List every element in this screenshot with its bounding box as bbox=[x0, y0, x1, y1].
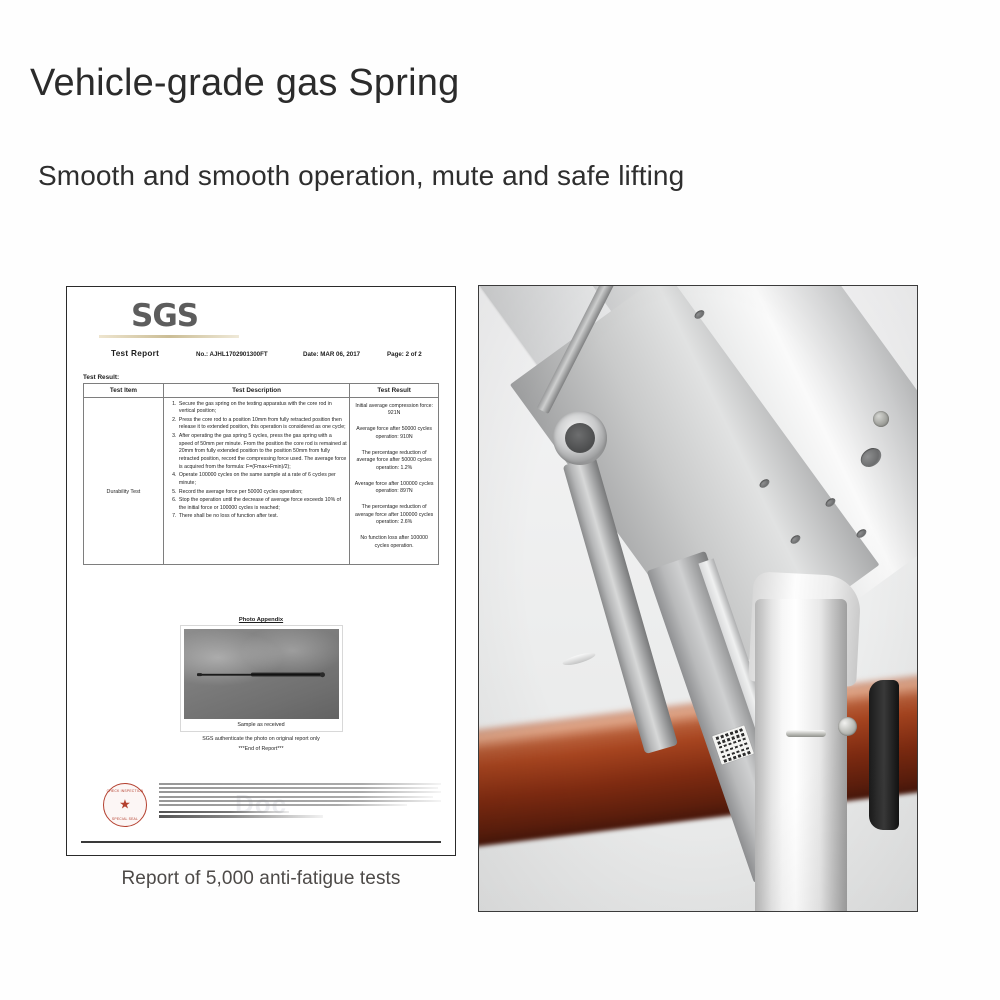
photo-authenticity-note: SGS authenticate the photo on original r… bbox=[83, 736, 439, 742]
col-header-test-item: Test Item bbox=[84, 383, 164, 397]
test-result-label: Test Result: bbox=[83, 374, 439, 381]
step-item: Operate 100000 cycles on the same sample… bbox=[178, 472, 347, 487]
page-subtitle: Smooth and smooth operation, mute and sa… bbox=[38, 160, 684, 192]
test-item-value: Durability Test bbox=[84, 489, 163, 495]
fineprint-line bbox=[159, 791, 441, 793]
sgs-report-page: SGS Test Report No.: AJHL1702901300FT Da… bbox=[71, 291, 451, 851]
red-seal-stamp-icon: CHECK INSPECTION ★ SPECIAL SEAL bbox=[103, 783, 147, 827]
report-title: Test Report bbox=[111, 349, 159, 358]
cell-test-result: Initial average compression force: 921N … bbox=[350, 397, 439, 564]
sgs-logo-underline bbox=[99, 335, 239, 338]
report-header-row: Test Report No.: AJHL1702901300FT Date: … bbox=[83, 347, 439, 363]
cell-test-description: Secure the gas spring on the testing app… bbox=[163, 397, 349, 564]
sgs-logo-block: SGS bbox=[83, 299, 439, 345]
result-line: Average force after 100000 cycles operat… bbox=[353, 481, 435, 496]
signature-line bbox=[159, 815, 323, 817]
sgs-logo: SGS bbox=[131, 301, 198, 332]
test-result-table: Test Item Test Description Test Result D… bbox=[83, 383, 439, 565]
star-icon: ★ bbox=[119, 798, 131, 811]
black-rubber-grip bbox=[869, 680, 899, 830]
post-shading bbox=[755, 599, 847, 912]
fineprint-line bbox=[159, 800, 441, 802]
step-item: Press the core rod to a position 10mm fr… bbox=[178, 417, 347, 432]
step-item: There shall be no loss of function after… bbox=[178, 513, 347, 521]
monitor-arm-scene bbox=[479, 286, 917, 911]
gas-spring-body bbox=[251, 672, 322, 676]
sgs-report-panel: SGS Test Report No.: AJHL1702901300FT Da… bbox=[66, 286, 456, 856]
step-item: Record the average force per 50000 cycle… bbox=[178, 489, 347, 497]
document-caption: Report of 5,000 anti-fatigue tests bbox=[66, 868, 456, 890]
step-item: Secure the gas spring on the testing app… bbox=[178, 401, 347, 416]
result-line: Average force after 50000 cycles operati… bbox=[353, 426, 435, 441]
report-page: Page: 2 of 2 bbox=[387, 351, 422, 358]
stamp-arc-top-text: CHECK INSPECTION bbox=[104, 789, 146, 793]
photo-appendix-title: Photo Appendix bbox=[83, 617, 439, 623]
pivot-pin bbox=[786, 730, 826, 737]
footer-fineprint bbox=[159, 783, 441, 831]
result-line: Initial average compression force: 921N bbox=[353, 403, 435, 418]
page-title: Vehicle-grade gas Spring bbox=[30, 62, 459, 105]
fineprint-line bbox=[159, 796, 433, 798]
test-description-steps: Secure the gas spring on the testing app… bbox=[167, 401, 347, 522]
report-date: Date: MAR 06, 2017 bbox=[303, 351, 360, 358]
fineprint-line bbox=[159, 804, 407, 806]
gas-spring-object bbox=[197, 672, 326, 677]
report-footer: CHECK INSPECTION ★ SPECIAL SEAL bbox=[75, 777, 447, 849]
step-item: Stop the operation until the decrease of… bbox=[178, 497, 347, 512]
cell-test-item: Durability Test bbox=[84, 397, 164, 564]
product-photo-panel bbox=[478, 285, 918, 912]
gas-spring-rod bbox=[197, 673, 254, 675]
photo-caption: Sample as received bbox=[184, 719, 339, 731]
gas-spring-end-cap-right bbox=[320, 672, 325, 677]
result-line: No function loss after 100000 cycles ope… bbox=[353, 535, 435, 550]
gas-spring-end-cap-left bbox=[197, 673, 202, 676]
report-number: No.: AJHL1702901300FT bbox=[196, 351, 268, 358]
fineprint-line bbox=[159, 783, 441, 785]
page-root: Vehicle-grade gas Spring Smooth and smoo… bbox=[0, 0, 1000, 1000]
col-header-test-result: Test Result bbox=[350, 383, 439, 397]
photo-appendix: Photo Appendix Sample as received SGS au… bbox=[83, 617, 439, 753]
result-line: The percentage reduction of average forc… bbox=[353, 504, 435, 527]
signature-line bbox=[159, 811, 289, 813]
footer-divider bbox=[81, 841, 441, 843]
end-of-report-marker: ***End of Report*** bbox=[83, 746, 439, 752]
step-item: After operating the gas spring 5 cycles,… bbox=[178, 433, 347, 471]
result-line: The percentage reduction of average forc… bbox=[353, 450, 435, 473]
gas-spring-seam bbox=[562, 650, 597, 667]
table-header-row: Test Item Test Description Test Result bbox=[84, 383, 439, 397]
appendix-photo-frame: Sample as received bbox=[180, 625, 343, 732]
fineprint-line bbox=[159, 787, 438, 789]
col-header-test-description: Test Description bbox=[163, 383, 349, 397]
stamp-arc-bottom-text: SPECIAL SEAL bbox=[104, 817, 146, 821]
gas-spring-photo bbox=[184, 629, 339, 719]
table-row: Durability Test Secure the gas spring on… bbox=[84, 397, 439, 564]
